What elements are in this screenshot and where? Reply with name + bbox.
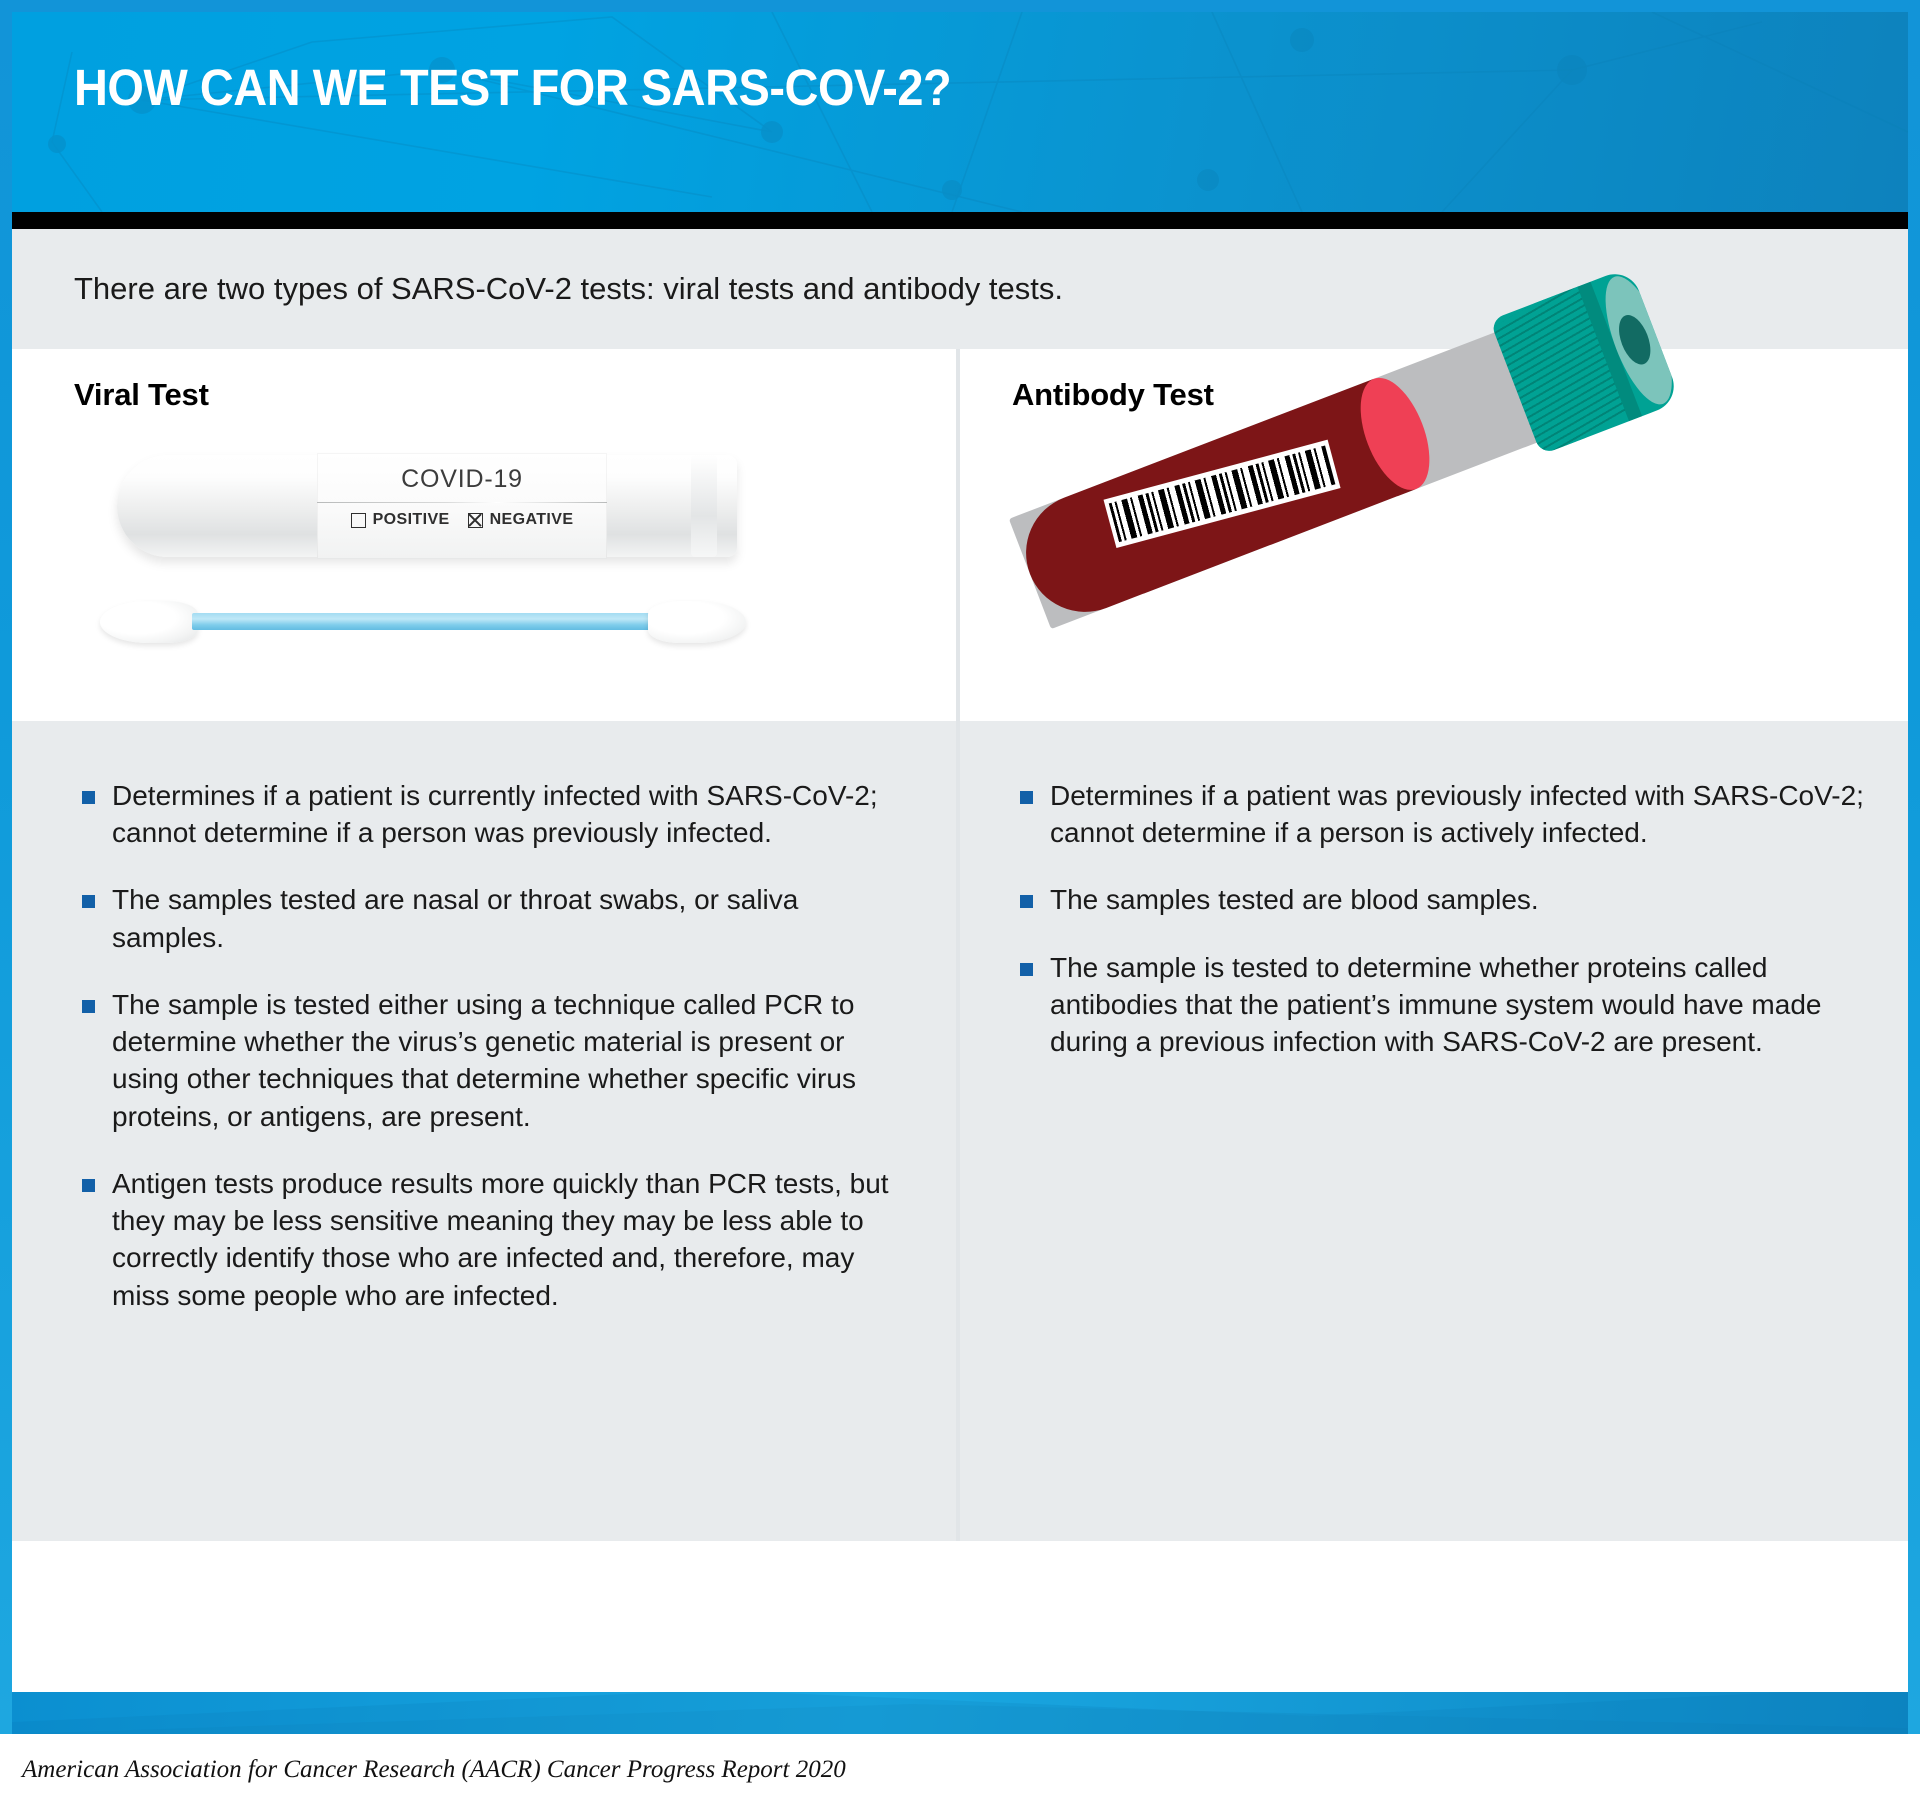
result-option-negative: NEGATIVE	[468, 511, 574, 529]
page-title: HOW CAN WE TEST FOR SARS-COV-2?	[74, 62, 951, 113]
checkbox-unchecked-icon	[351, 513, 366, 528]
viral-test-illustration-panel: Viral Test COVID-19 POSITIVE	[12, 349, 956, 721]
checkbox-checked-icon	[468, 513, 483, 528]
list-item: The sample is tested either using a tech…	[74, 986, 898, 1135]
list-item: The samples tested are blood samples.	[1012, 881, 1868, 918]
comparison-columns: Viral Test COVID-19 POSITIVE	[12, 349, 1908, 1541]
list-item: Determines if a patient was previously i…	[1012, 777, 1868, 851]
infographic-root: HOW CAN WE TEST FOR SARS-COV-2? There ar…	[0, 0, 1920, 1801]
blue-frame: HOW CAN WE TEST FOR SARS-COV-2? There ar…	[0, 0, 1920, 1734]
antibody-test-bullets-panel: Determines if a patient was previously i…	[960, 721, 1908, 1541]
result-option-negative-label: NEGATIVE	[490, 511, 574, 529]
header-banner: HOW CAN WE TEST FOR SARS-COV-2?	[12, 12, 1908, 212]
footer-blue-strip	[12, 1692, 1908, 1734]
viral-test-bullets-panel: Determines if a patient is currently inf…	[12, 721, 956, 1541]
blood-vial-icon	[1000, 395, 1720, 705]
viral-test-title: Viral Test	[74, 377, 956, 413]
swab-stick	[192, 613, 662, 630]
antibody-test-bullet-list: Determines if a patient was previously i…	[1012, 777, 1868, 1060]
wave-pattern-icon	[12, 1692, 1908, 1734]
column-antibody-test: Antibody Test	[960, 349, 1908, 1541]
test-tube-rim	[691, 455, 717, 557]
source-attribution: American Association for Cancer Research…	[22, 1756, 846, 1784]
list-item: The samples tested are nasal or throat s…	[74, 881, 898, 955]
header-underline-bar	[12, 212, 1908, 229]
result-option-positive: POSITIVE	[351, 511, 450, 529]
list-item: Determines if a patient is currently inf…	[74, 777, 898, 851]
frame-inner: HOW CAN WE TEST FOR SARS-COV-2? There ar…	[12, 12, 1908, 1734]
result-option-positive-label: POSITIVE	[373, 511, 450, 529]
list-item: The sample is tested to determine whethe…	[1012, 949, 1868, 1061]
test-tube-icon: COVID-19 POSITIVE NEGATIVE	[97, 449, 737, 569]
intro-text: There are two types of SARS-CoV-2 tests:…	[12, 271, 1063, 307]
covid-label-text: COVID-19	[401, 465, 523, 494]
swab-tip-left	[100, 601, 198, 643]
column-viral-test: Viral Test COVID-19 POSITIVE	[12, 349, 960, 1541]
result-options: POSITIVE NEGATIVE	[351, 511, 574, 529]
test-tube-label: COVID-19 POSITIVE NEGATIVE	[317, 453, 607, 559]
viral-test-bullet-list: Determines if a patient is currently inf…	[74, 777, 898, 1314]
nasal-swab-icon	[100, 599, 740, 645]
swab-tip-right	[648, 601, 746, 643]
label-divider	[317, 502, 607, 503]
list-item: Antigen tests produce results more quick…	[74, 1165, 898, 1314]
antibody-test-illustration-panel: Antibody Test	[960, 349, 1908, 721]
